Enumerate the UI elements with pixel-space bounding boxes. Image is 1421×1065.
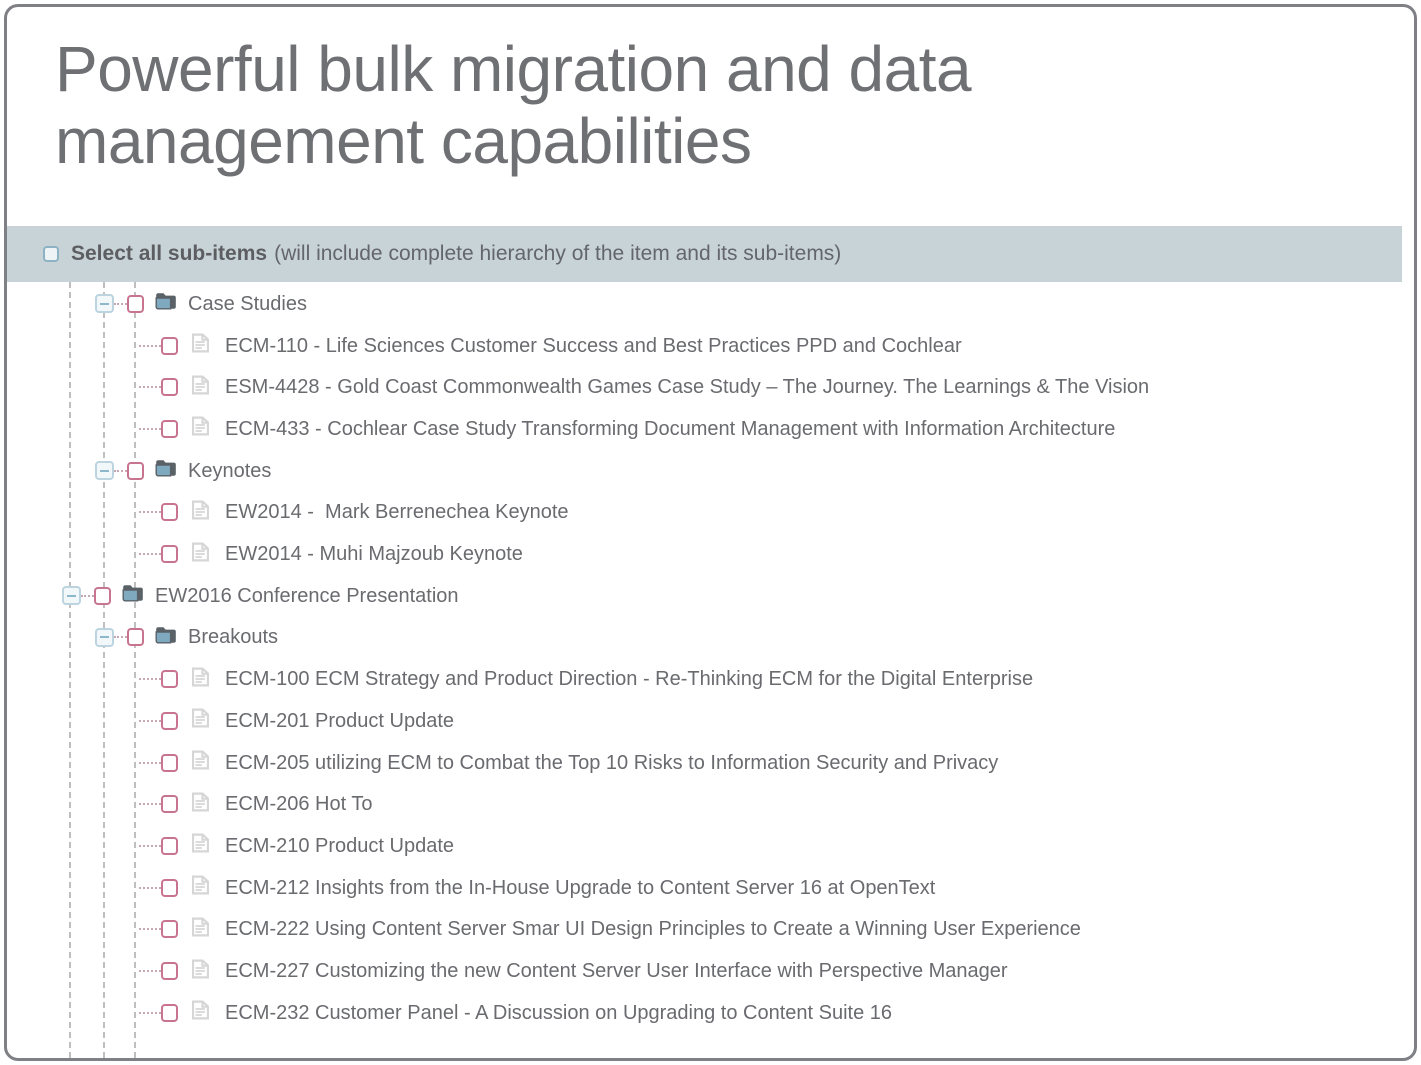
checkbox-ecm-212[interactable] <box>161 879 178 897</box>
checkbox-ecm-210[interactable] <box>161 837 178 855</box>
document-icon <box>192 750 209 775</box>
document-icon <box>192 375 209 400</box>
document-icon <box>192 708 209 733</box>
select-all-label: Select all sub-items <box>71 242 267 266</box>
expander-collapse-icon-keynotes[interactable] <box>95 461 114 480</box>
checkbox-ew2014-mark[interactable] <box>161 503 178 521</box>
tree-connector <box>139 678 161 680</box>
tree-row-label: ECM-201 Product Update <box>225 711 454 731</box>
tree-connector <box>139 428 161 430</box>
tree-row-ecm-433[interactable]: ECM-433 - Cochlear Case Study Transformi… <box>7 408 1414 450</box>
tree-connector <box>139 720 161 722</box>
tree-connector <box>139 845 161 847</box>
tree-row-label: ECM-433 - Cochlear Case Study Transformi… <box>225 419 1115 439</box>
page-title: Powerful bulk migration and data managem… <box>55 33 1374 178</box>
checkbox-ecm-205[interactable] <box>161 754 178 772</box>
expander-collapse-icon-case-studies[interactable] <box>95 294 114 313</box>
tree-row-ecm-205[interactable]: ECM-205 utilizing ECM to Combat the Top … <box>7 742 1414 784</box>
tree-row-label: EW2014 - Muhi Majzoub Keynote <box>225 544 523 564</box>
document-icon <box>192 792 209 817</box>
tree-row-label: ECM-212 Insights from the In-House Upgra… <box>225 878 935 898</box>
tree-row-ecm-206[interactable]: ECM-206 Hot To <box>7 783 1414 825</box>
item-tree: Case StudiesECM-110 - Life Sciences Cust… <box>7 282 1414 1058</box>
tree-row-label: ECM-222 Using Content Server Smar UI Des… <box>225 919 1081 939</box>
folder-icon <box>155 459 177 482</box>
tree-row-label: Breakouts <box>188 627 278 647</box>
checkbox-keynotes[interactable] <box>127 462 144 480</box>
tree-row-esm-4428[interactable]: ESM-4428 - Gold Coast Commonwealth Games… <box>7 366 1414 408</box>
tree-row-ecm-232[interactable]: ECM-232 Customer Panel - A Discussion on… <box>7 992 1414 1034</box>
tree-row-case-studies[interactable]: Case Studies <box>7 283 1414 325</box>
checkbox-ecm-201[interactable] <box>161 712 178 730</box>
tree-row-ecm-227[interactable]: ECM-227 Customizing the new Content Serv… <box>7 950 1414 992</box>
tree-row-label: Keynotes <box>188 461 271 481</box>
checkbox-ecm-100[interactable] <box>161 670 178 688</box>
tree-connector <box>139 345 161 347</box>
tree-row-ecm-110[interactable]: ECM-110 - Life Sciences Customer Success… <box>7 325 1414 367</box>
checkbox-ecm-433[interactable] <box>161 420 178 438</box>
tree-connector <box>139 553 161 555</box>
tree-connector <box>139 762 161 764</box>
tree-connector <box>139 803 161 805</box>
tree-row-keynotes[interactable]: Keynotes <box>7 450 1414 492</box>
tree-row-ew2014-muhi[interactable]: EW2014 - Muhi Majzoub Keynote <box>7 533 1414 575</box>
tree-connector <box>139 970 161 972</box>
tree-connector <box>114 636 127 638</box>
tree-row-label: Case Studies <box>188 294 307 314</box>
select-all-note: (will include complete hierarchy of the … <box>274 242 841 266</box>
tree-connector <box>139 887 161 889</box>
document-icon <box>192 1000 209 1025</box>
tree-row-label: ECM-100 ECM Strategy and Product Directi… <box>225 669 1033 689</box>
select-all-checkbox[interactable] <box>43 246 59 262</box>
document-icon <box>192 667 209 692</box>
document-icon <box>192 416 209 441</box>
tree-row-label: ECM-232 Customer Panel - A Discussion on… <box>225 1003 892 1023</box>
document-icon <box>192 875 209 900</box>
checkbox-ecm-232[interactable] <box>161 1004 178 1022</box>
tree-connector <box>139 928 161 930</box>
tree-row-ew2014-mark[interactable]: EW2014 - Mark Berrenechea Keynote <box>7 492 1414 534</box>
tree-row-label: ECM-205 utilizing ECM to Combat the Top … <box>225 753 998 773</box>
tree-row-ew2016-conf[interactable]: EW2016 Conference Presentation <box>7 575 1414 617</box>
document-icon <box>192 500 209 525</box>
folder-icon <box>155 292 177 315</box>
tree-connector <box>139 1012 161 1014</box>
checkbox-esm-4428[interactable] <box>161 378 178 396</box>
expander-collapse-icon-ew2016-conf[interactable] <box>62 586 81 605</box>
tree-row-ecm-210[interactable]: ECM-210 Product Update <box>7 825 1414 867</box>
tree-row-label: EW2014 - Mark Berrenechea Keynote <box>225 502 569 522</box>
document-icon <box>192 333 209 358</box>
title-area: Powerful bulk migration and data managem… <box>7 7 1414 218</box>
select-all-sub-items-bar[interactable]: Select all sub-items (will include compl… <box>7 226 1402 282</box>
tree-row-ecm-201[interactable]: ECM-201 Product Update <box>7 700 1414 742</box>
tree-row-breakouts[interactable]: Breakouts <box>7 617 1414 659</box>
folder-icon <box>155 626 177 649</box>
tree-connector <box>139 511 161 513</box>
checkbox-ew2016-conf[interactable] <box>94 587 111 605</box>
checkbox-breakouts[interactable] <box>127 628 144 646</box>
document-icon <box>192 917 209 942</box>
tree-row-ecm-212[interactable]: ECM-212 Insights from the In-House Upgra… <box>7 867 1414 909</box>
folder-icon <box>122 584 144 607</box>
tree-row-label: ECM-206 Hot To <box>225 794 372 814</box>
tree-row-label: ECM-110 - Life Sciences Customer Success… <box>225 336 962 356</box>
tree-row-label: EW2016 Conference Presentation <box>155 586 459 606</box>
tree-connector <box>114 470 127 472</box>
expander-collapse-icon-breakouts[interactable] <box>95 628 114 647</box>
checkbox-ew2014-muhi[interactable] <box>161 545 178 563</box>
tree-row-label: ESM-4428 - Gold Coast Commonwealth Games… <box>225 377 1149 397</box>
checkbox-ecm-222[interactable] <box>161 920 178 938</box>
checkbox-ecm-110[interactable] <box>161 337 178 355</box>
checkbox-ecm-227[interactable] <box>161 962 178 980</box>
tree-row-ecm-100[interactable]: ECM-100 ECM Strategy and Product Directi… <box>7 658 1414 700</box>
tree-connector <box>81 595 94 597</box>
tree-connector <box>139 386 161 388</box>
tree-row-label: ECM-210 Product Update <box>225 836 454 856</box>
checkbox-case-studies[interactable] <box>127 295 144 313</box>
tree-row-ecm-222[interactable]: ECM-222 Using Content Server Smar UI Des… <box>7 909 1414 951</box>
tree-connector <box>114 303 127 305</box>
document-icon <box>192 542 209 567</box>
document-icon <box>192 959 209 984</box>
checkbox-ecm-206[interactable] <box>161 795 178 813</box>
dialog-frame: Powerful bulk migration and data managem… <box>4 4 1417 1061</box>
document-icon <box>192 833 209 858</box>
tree-row-label: ECM-227 Customizing the new Content Serv… <box>225 961 1008 981</box>
